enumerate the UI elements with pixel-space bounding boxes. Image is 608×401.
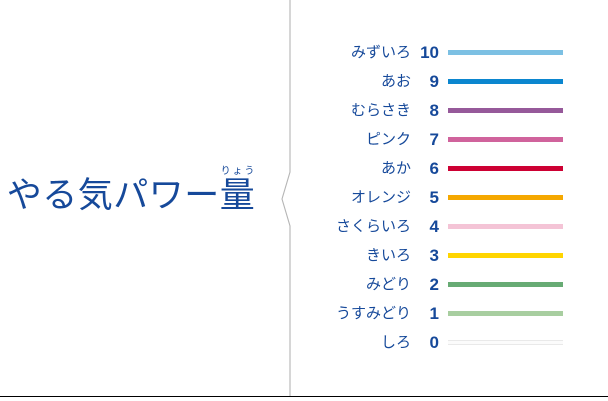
row-value: 1: [411, 305, 441, 322]
row-bar: [448, 340, 563, 345]
row-label: さくらいろ: [310, 219, 411, 234]
row-label: みどり: [310, 277, 411, 292]
row-label: きいろ: [310, 248, 411, 263]
row-bar-cell: [441, 108, 608, 113]
chart-row: ピンク 7: [310, 125, 608, 154]
row-bar: [448, 137, 563, 142]
chart-panel: みずいろ 10 あお 9 むらさき 8: [310, 0, 608, 397]
row-bar: [448, 79, 563, 84]
chart-row: きいろ 3: [310, 241, 608, 270]
row-bar: [448, 108, 563, 113]
row-label: ピンク: [310, 132, 411, 147]
divider-path: [282, 0, 290, 397]
chart-row: むらさき 8: [310, 96, 608, 125]
row-bar: [448, 195, 563, 200]
row-value: 3: [411, 247, 441, 264]
chart-row: オレンジ 5: [310, 183, 608, 212]
row-bar-cell: [441, 166, 608, 171]
row-label: みずいろ: [310, 45, 411, 60]
row-bar: [448, 311, 563, 316]
row-label: うすみどり: [310, 306, 411, 321]
row-value: 10: [411, 44, 441, 61]
chart-row: みずいろ 10: [310, 38, 608, 67]
chart-title-furigana: りょう: [220, 166, 256, 177]
row-bar-cell: [441, 195, 608, 200]
chart-row: さくらいろ 4: [310, 212, 608, 241]
row-label: あお: [310, 74, 411, 89]
row-label: しろ: [310, 335, 411, 350]
row-label: あか: [310, 161, 411, 176]
row-value: 9: [411, 73, 441, 90]
row-label: オレンジ: [310, 190, 411, 205]
row-value: 8: [411, 102, 441, 119]
chart-title-kanji: 量: [220, 176, 256, 215]
row-bar-cell: [441, 311, 608, 316]
row-label: むらさき: [310, 103, 411, 118]
row-value: 0: [411, 334, 441, 351]
chart-title-ruby-group: 量りょう: [220, 176, 256, 215]
row-bar-cell: [441, 282, 608, 287]
chart-figure: やる気パワー量りょう みずいろ 10 あお 9 むらさき: [0, 0, 608, 401]
chart-row: あか 6: [310, 154, 608, 183]
bottom-rule: [0, 396, 608, 397]
chart-row: うすみどり 1: [310, 299, 608, 328]
row-bar-cell: [441, 253, 608, 258]
chart-row-list: みずいろ 10 あお 9 むらさき 8: [310, 38, 608, 357]
chart-title: やる気パワー量りょう: [0, 166, 262, 213]
chart-row: みどり 2: [310, 270, 608, 299]
row-value: 4: [411, 218, 441, 235]
row-bar-cell: [441, 224, 608, 229]
row-bar-cell: [441, 137, 608, 142]
row-bar-cell: [441, 340, 608, 345]
chart-row: あお 9: [310, 67, 608, 96]
row-value: 7: [411, 131, 441, 148]
row-bar: [448, 166, 563, 171]
row-bar-cell: [441, 79, 608, 84]
row-value: 6: [411, 160, 441, 177]
row-bar-cell: [441, 50, 608, 55]
row-value: 2: [411, 276, 441, 293]
panel-divider: [270, 0, 310, 397]
row-bar: [448, 282, 563, 287]
chart-row: しろ 0: [310, 328, 608, 357]
chart-title-base: やる気パワー: [7, 176, 220, 215]
row-bar: [448, 50, 563, 55]
row-value: 5: [411, 189, 441, 206]
title-panel: やる気パワー量りょう: [0, 0, 270, 397]
row-bar: [448, 253, 563, 258]
row-bar: [448, 224, 563, 229]
